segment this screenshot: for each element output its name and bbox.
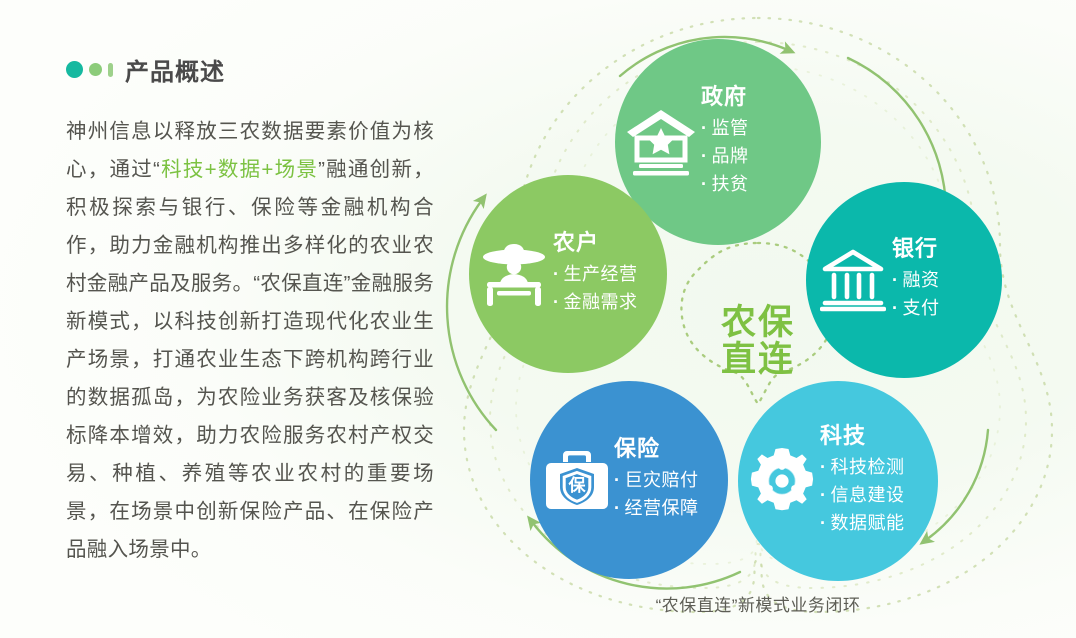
- section-heading: 产品概述: [66, 52, 434, 87]
- node-tech-text: 科技 科技检测 信息建设 数据赋能: [820, 424, 905, 538]
- center-label-line2: 直连: [721, 341, 795, 378]
- center-label: 农保 直连: [721, 304, 795, 378]
- circle-large-teal-icon: [66, 61, 83, 78]
- center-label-line1: 农保: [721, 304, 795, 341]
- product-overview-panel: 产品概述 神州信息以释放三农数据要素价值为核心，通过“科技+数据+场景”融通创新…: [66, 52, 434, 569]
- body-text-highlight: 科技+数据+场景: [160, 158, 318, 181]
- diagram-center-hub: 农保 直连: [668, 252, 848, 430]
- node-bank-text: 银行 融资 支付: [892, 237, 940, 323]
- node-item: 融资: [892, 267, 940, 295]
- bar-small-green-icon: [108, 63, 113, 77]
- node-item: 支付: [892, 295, 940, 323]
- page-title: 产品概述: [125, 52, 225, 87]
- node-title: 银行: [892, 237, 940, 261]
- diagram-caption: “农保直连”新模式业务闭环: [440, 591, 1076, 616]
- node-title: 农户: [553, 231, 638, 255]
- node-item: 经营保障: [614, 495, 699, 523]
- business-loop-diagram: 政府 监管 品牌 扶贫 银行 融资 支付: [440, 0, 1076, 638]
- node-item: 生产经营: [553, 261, 638, 289]
- node-title: 政府: [701, 85, 749, 109]
- circle-medium-green-icon: [89, 63, 102, 76]
- svg-text:保: 保: [568, 475, 587, 495]
- node-farmer[interactable]: 农户 生产经营 金融需求: [469, 175, 667, 373]
- node-item: 扶贫: [701, 171, 749, 199]
- node-government-text: 政府 监管 品牌 扶贫: [701, 85, 749, 199]
- product-overview-body: 神州信息以释放三农数据要素价值为核心，通过“科技+数据+场景”融通创新，积极探索…: [66, 113, 434, 569]
- node-item: 信息建设: [820, 482, 905, 510]
- node-item: 科技检测: [820, 454, 905, 482]
- body-text-part2: ”融通创新，积极探索与银行、保险等金融机构合作，助力金融机构推出多样化的农业农村…: [66, 158, 434, 561]
- farmer-icon: [481, 241, 547, 307]
- node-farmer-text: 农户 生产经营 金融需求: [553, 231, 638, 317]
- node-item: 巨灾赔付: [614, 467, 699, 495]
- gear-icon: [748, 447, 816, 515]
- government-building-icon: [625, 108, 697, 176]
- node-item: 数据赋能: [820, 510, 905, 538]
- node-item: 金融需求: [553, 289, 638, 317]
- node-item: 监管: [701, 115, 749, 143]
- node-insurance-text: 保险 巨灾赔付 经营保障: [614, 437, 699, 523]
- node-title: 保险: [614, 437, 699, 461]
- insurance-case-shield-icon: 保: [544, 449, 610, 511]
- node-item: 品牌: [701, 143, 749, 171]
